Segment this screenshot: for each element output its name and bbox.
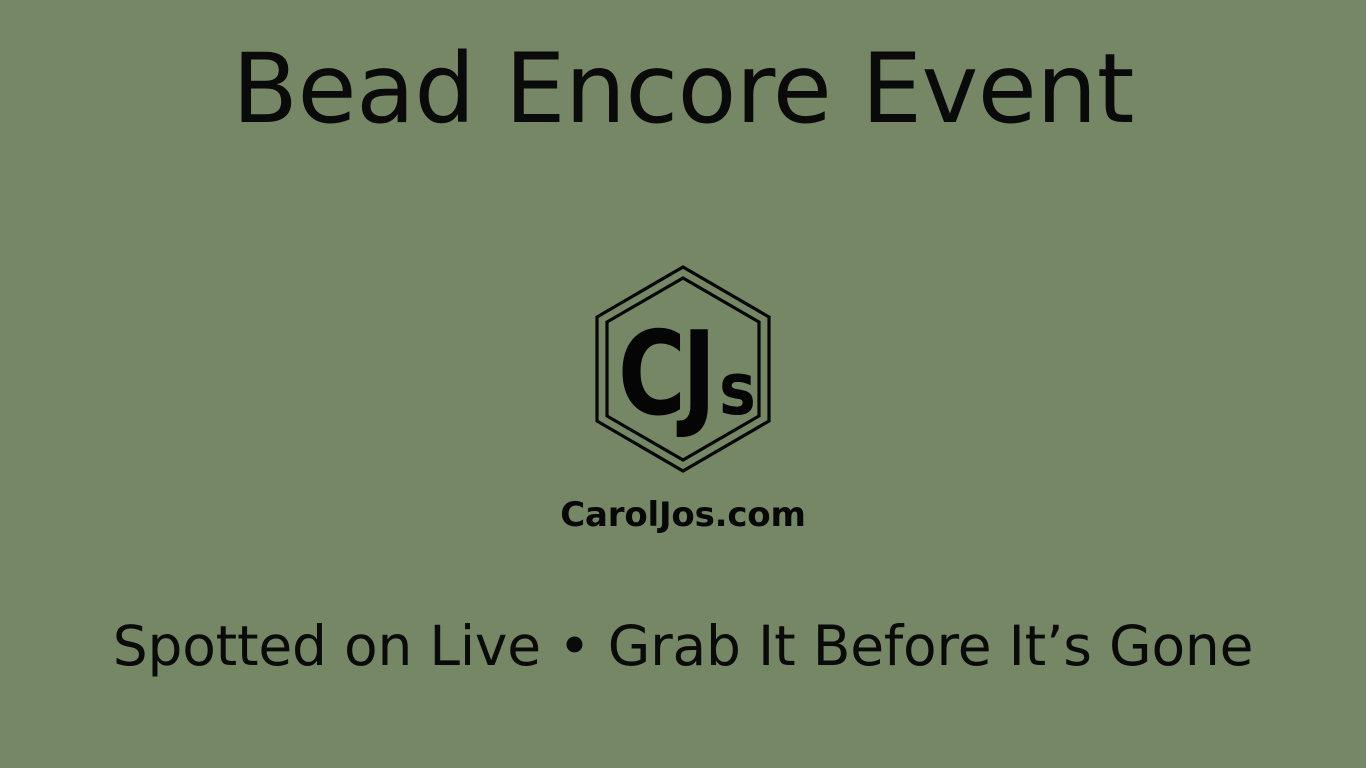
logo-letters-s: s — [719, 353, 754, 425]
slide-canvas: Bead Encore Event CJ s CarolJos.com Spot… — [0, 0, 1366, 768]
cjs-hexagon-logo-icon: CJ s — [592, 262, 774, 476]
logo-letters: CJ s — [592, 262, 774, 476]
tagline: Spotted on Live • Grab It Before It’s Go… — [0, 613, 1366, 679]
brand-wordmark: CarolJos.com — [560, 498, 805, 532]
logo-letters-cj: CJ — [618, 317, 713, 433]
page-title: Bead Encore Event — [0, 36, 1366, 144]
brand-logo-block: CJ s CarolJos.com — [0, 262, 1366, 532]
